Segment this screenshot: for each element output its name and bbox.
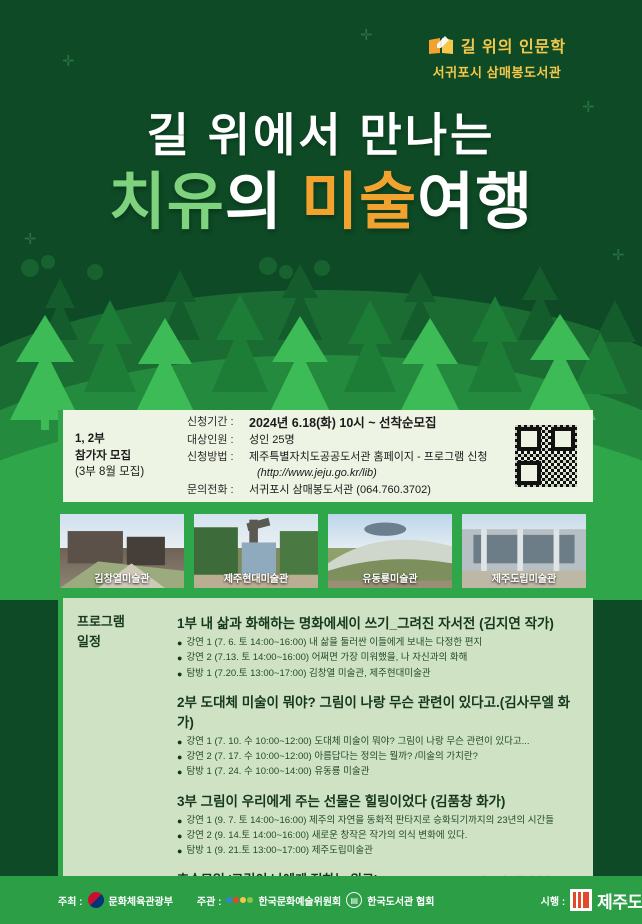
program-session-text: 강연 2 (7.13. 토 14:00~16:00) 어쩌면 가장 미워했을, … [186, 651, 467, 666]
museum-photo-strip: 김창열미술관 제주현대미술관 유동룡미술관 [58, 512, 588, 590]
program-session-item: ●강연 1 (7. 6. 토 14:00~16:00) 내 삶을 둘러싼 이들에… [177, 636, 579, 651]
program-label-line1: 프로그램 [77, 612, 177, 632]
open-book-pencil-icon [428, 35, 454, 55]
plus-decoration-icon: ✛ [360, 28, 373, 43]
brand-block: 길 위의 인문학 서귀포시 삼매봉도서관 [392, 33, 602, 81]
registration-recruit-label: 참가자 모집 [75, 448, 187, 465]
program-session-text: 탐방 1 (7.20.토 13:00~17:00) 김창열 미술관, 제주현대미… [186, 667, 430, 682]
plus-decoration-icon: ✛ [612, 248, 625, 263]
program-session-text: 강연 1 (7. 10. 수 10:00~12:00) 도대체 미술이 뭐야? … [186, 735, 529, 750]
brand-main-title: 길 위의 인문학 [461, 33, 566, 57]
title-word-misul: 미술 [301, 168, 417, 237]
info-row-method: 신청방법 : 제주특별자치도공공도서관 홈페이지 - 프로그램 신청 [187, 449, 515, 466]
title-word-chiyu: 치유 [109, 168, 225, 237]
program-session-text: 강연 2 (9. 14.토 14:00~16:00) 새로운 창작은 작가의 의… [186, 829, 467, 844]
program-part-heading: 3부 그림이 우리에게 주는 선물은 힐링이었다 (김품창 화가) [177, 790, 579, 810]
footer-supervise-group: 주관 : 한국문화예술위원회 ▤ 한국도서관 협회 [197, 892, 435, 908]
bullet-icon: ● [177, 750, 182, 765]
info-label-phone: 문의전화 : [187, 482, 249, 499]
program-session-text: 강연 2 (7. 17. 수 10:00~12:00) 아름답다는 정의는 뭘까… [186, 750, 478, 765]
brand-subtitle: 서귀포시 삼매봉도서관 [392, 62, 602, 81]
korea-government-logo-icon [88, 892, 104, 908]
museum-photo: 제주현대미술관 [192, 512, 320, 590]
program-session-item: ●탐방 1 (7.20.토 13:00~17:00) 김창열 미술관, 제주현대… [177, 667, 579, 682]
registration-parts-label: 1, 2부 [75, 431, 187, 448]
museum-photo-caption: 제주도립미술관 [462, 570, 586, 585]
program-session-item: ●탐방 1 (9. 21.토 13:00~17:00) 제주도립미술관 [177, 844, 579, 859]
footer-execute-name: 제주도민신문 [597, 888, 642, 913]
bullet-icon: ● [177, 765, 182, 780]
footer-supervise-name-1: 한국문화예술위원회 [258, 893, 341, 908]
program-parts-list: 1부 내 삶과 화해하는 명화에세이 쓰기_그려진 자서전 (김지연 작가) ●… [177, 598, 593, 876]
arko-logo-icon [226, 897, 253, 903]
info-value-phone: 서귀포시 삼매봉도서관 (064.760.3702) [249, 482, 515, 499]
bullet-icon: ● [177, 636, 182, 651]
program-session-text: 강연 1 (9. 7. 토 14:00~16:00) 제주의 자연을 동화적 판… [186, 814, 554, 829]
program-session-item: ●강연 2 (7. 17. 수 10:00~12:00) 아름답다는 정의는 뭘… [177, 750, 579, 765]
bullet-icon: ● [177, 735, 182, 750]
info-row-audience: 대상인원 : 성인 25명 [187, 432, 515, 449]
info-row-period: 신청기간 : 2024년 6.18(화) 10시 ~ 선착순모집 [187, 414, 515, 433]
registration-left-label: 1, 2부 참가자 모집 (3부 8월 모집) [63, 431, 187, 481]
plus-decoration-icon: ✛ [24, 232, 37, 247]
footer-host-label: 주최 : [58, 893, 83, 908]
footer-supervise-label: 주관 : [197, 893, 222, 908]
program-part: 3부 그림이 우리에게 주는 선물은 힐링이었다 (김품창 화가) ●강연 1 … [177, 790, 579, 860]
bullet-icon: ● [177, 667, 182, 682]
museum-photo-caption: 김창열미술관 [60, 570, 184, 585]
forest-svg [0, 0, 642, 600]
info-value-audience: 성인 25명 [249, 432, 515, 449]
museum-photo: 제주도립미술관 [460, 512, 588, 590]
qr-code[interactable] [515, 425, 577, 487]
bullet-icon: ● [177, 844, 182, 859]
library-association-logo-icon: ▤ [346, 892, 362, 908]
program-part: 1부 내 삶과 화해하는 명화에세이 쓰기_그려진 자서전 (김지연 작가) ●… [177, 612, 579, 682]
footer-execute-label: 시행 : [541, 893, 566, 908]
program-session-item: ●강연 1 (7. 10. 수 10:00~12:00) 도대체 미술이 뭐야?… [177, 735, 579, 750]
info-label-method: 신청방법 : [187, 449, 249, 466]
registration-info-box: 1, 2부 참가자 모집 (3부 8월 모집) 신청기간 : 2024년 6.1… [58, 410, 593, 502]
footer-execute-group: 시행 : 제주도민신문 [541, 888, 642, 913]
info-row-phone: 문의전화 : 서귀포시 삼매봉도서관 (064.760.3702) [187, 482, 515, 499]
program-session-text: 탐방 1 (9. 21.토 13:00~17:00) 제주도립미술관 [186, 844, 372, 859]
program-part-heading: 1부 내 삶과 화해하는 명화에세이 쓰기_그려진 자서전 (김지연 작가) [177, 612, 579, 632]
bullet-icon: ● [177, 651, 182, 666]
registration-part3-note: (3부 8월 모집) [75, 464, 187, 481]
program-session-item: ●강연 2 (9. 14.토 14:00~16:00) 새로운 창작은 작가의 … [177, 829, 579, 844]
museum-photo-caption: 유동룡미술관 [328, 570, 452, 585]
title-line-2: 치유의 미술여행 [0, 172, 642, 234]
title-word-ui: 의 [225, 168, 301, 237]
info-label-period: 신청기간 : [187, 414, 249, 433]
museum-photo: 김창열미술관 [58, 512, 186, 590]
jeju-news-logo-icon [570, 889, 592, 911]
program-section-label: 프로그램 일정 [63, 598, 177, 876]
info-value-period: 2024년 6.18(화) 10시 ~ 선착순모집 [249, 414, 515, 433]
bullet-icon: ● [177, 829, 182, 844]
poster-title: 길 위에서 만나는 치유의 미술여행 [0, 112, 642, 234]
program-session-text: 탐방 1 (7. 24. 수 10:00~14:00) 유동룡 미술관 [186, 765, 369, 780]
museum-photo: 유동룡미술관 [326, 512, 454, 590]
info-registration-url[interactable]: (http://www.jeju.go.kr/lib) [187, 465, 515, 482]
registration-detail-rows: 신청기간 : 2024년 6.18(화) 10시 ~ 선착순모집 대상인원 : … [187, 414, 515, 499]
museum-photo-caption: 제주현대미술관 [194, 570, 318, 585]
program-session-text: 강연 1 (7. 6. 토 14:00~16:00) 내 삶을 둘러싼 이들에게… [186, 636, 482, 651]
program-session-item: ●탐방 1 (7. 24. 수 10:00~14:00) 유동룡 미술관 [177, 765, 579, 780]
program-schedule-box: 프로그램 일정 1부 내 삶과 화해하는 명화에세이 쓰기_그려진 자서전 (김… [58, 598, 593, 876]
footer-supervise-name-2: 한국도서관 협회 [367, 893, 434, 908]
info-value-method: 제주특별자치도공공도서관 홈페이지 - 프로그램 신청 [249, 449, 515, 466]
program-session-item: ●강연 1 (9. 7. 토 14:00~16:00) 제주의 자연을 동화적 … [177, 814, 579, 829]
poster-root: ✛ ✛ ✛ ✛ ✛ 길 위의 인문학 서귀포시 삼매봉도서관 길 위에서 만나는… [0, 0, 642, 924]
plus-decoration-icon: ✛ [62, 54, 75, 69]
title-word-yeohaeng: 여행 [417, 168, 533, 237]
footer-host-name: 문화체육관광부 [109, 893, 173, 908]
footer-host-group: 주최 : 문화체육관광부 [58, 892, 173, 908]
program-part-heading: 2부 도대체 미술이 뭐야? 그림이 나랑 무슨 관련이 있다고.(김사무엘 화… [177, 691, 579, 731]
title-line-1: 길 위에서 만나는 [0, 112, 642, 158]
poster-footer: 주최 : 문화체육관광부 주관 : 한국문화예술위원회 ▤ 한국도서관 협회 시… [0, 876, 642, 924]
program-part: 2부 도대체 미술이 뭐야? 그림이 나랑 무슨 관련이 있다고.(김사무엘 화… [177, 691, 579, 781]
info-label-audience: 대상인원 : [187, 432, 249, 449]
program-label-line2: 일정 [77, 632, 177, 652]
bullet-icon: ● [177, 814, 182, 829]
program-session-item: ●강연 2 (7.13. 토 14:00~16:00) 어쩌면 가장 미워했을,… [177, 651, 579, 666]
